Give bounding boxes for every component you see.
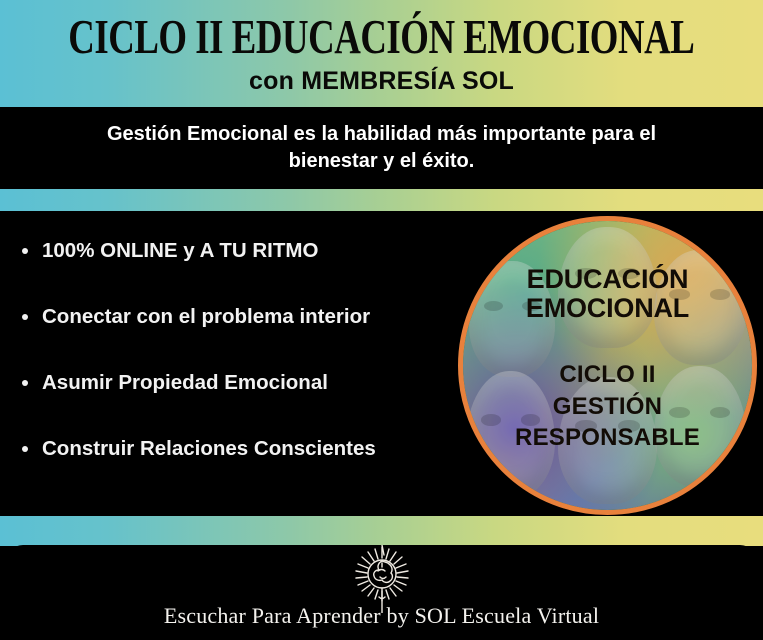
emblem-subtitle: CICLO II GESTIÓN RESPONSABLE [515,359,700,453]
statement-strip: Gestión Emocional es la habilidad más im… [0,107,763,189]
list-item-label: Asumir Propiedad Emocional [42,371,328,394]
header: CICLO II EDUCACIÓN EMOCIONAL con MEMBRES… [0,0,763,107]
body-area: 100% ONLINE y A TU RITMO Conectar con el… [0,211,763,516]
bullet-dot-icon [22,446,28,452]
footer: Escuchar Para Aprender by SOL Escuela Vi… [6,545,757,640]
emblem-text-block: EDUCACIÓN EMOCIONAL CICLO II GESTIÓN RES… [463,221,752,510]
bullet-dot-icon [22,248,28,254]
page-subtitle: con MEMBRESÍA SOL [249,67,514,96]
emblem-title: EDUCACIÓN EMOCIONAL [526,265,689,323]
list-item: Asumir Propiedad Emocional [16,371,456,395]
emblem-title-line1: EDUCACIÓN [526,265,689,294]
list-item: Conectar con el problema interior [16,305,456,329]
emblem-sub-line2: GESTIÓN [515,391,700,422]
page-title: CICLO II EDUCACIÓN EMOCIONAL [68,11,694,62]
statement-text: Gestión Emocional es la habilidad más im… [62,121,702,174]
bullet-dot-icon [22,380,28,386]
emblem-badge: EDUCACIÓN EMOCIONAL CICLO II GESTIÓN RES… [458,216,757,515]
footer-caption: Escuchar Para Aprender by SOL Escuela Vi… [6,603,757,629]
list-item: 100% ONLINE y A TU RITMO [16,239,456,263]
list-item-label: Construir Relaciones Conscientes [42,437,376,460]
benefits-list: 100% ONLINE y A TU RITMO Conectar con el… [16,239,456,461]
emblem-sub-line1: CICLO II [515,359,700,390]
emblem-title-line2: EMOCIONAL [526,294,689,323]
emblem-sub-line3: RESPONSABLE [515,422,700,453]
poster: CICLO II EDUCACIÓN EMOCIONAL con MEMBRES… [0,0,763,640]
mid-gradient-band [0,189,763,211]
list-item-label: Conectar con el problema interior [42,305,370,328]
list-item-label: 100% ONLINE y A TU RITMO [42,239,318,262]
list-item: Construir Relaciones Conscientes [16,437,456,461]
footer-gradient-band [0,516,763,546]
bullet-dot-icon [22,314,28,320]
